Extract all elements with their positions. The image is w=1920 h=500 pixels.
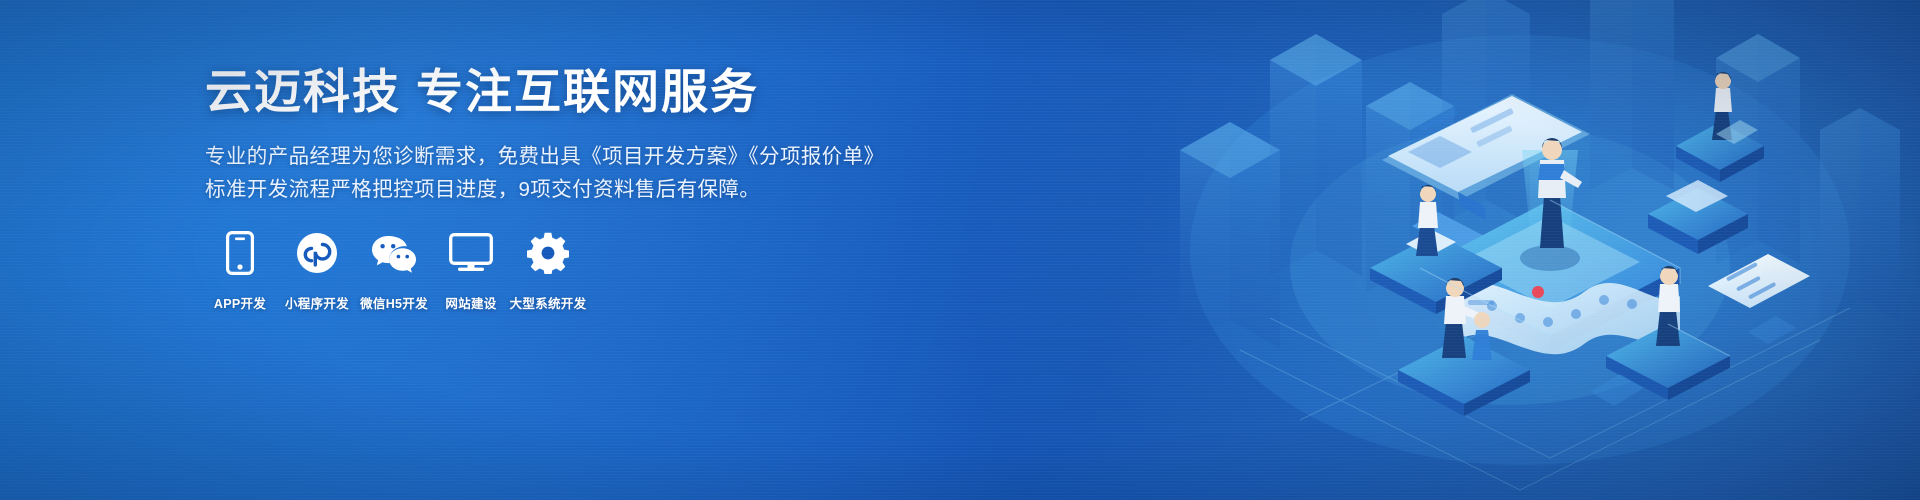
- monitor-icon: [449, 230, 493, 276]
- service-item-website[interactable]: 网站建设: [436, 230, 506, 312]
- service-label-wechat-h5: 微信H5开发: [360, 293, 428, 312]
- subtitle-line-1: 专业的产品经理为您诊断需求，免费出具《项目开发方案》《分项报价单》: [205, 140, 905, 173]
- gear-icon: [527, 230, 569, 276]
- banner-headline: 云迈科技 专注互联网服务: [205, 66, 905, 118]
- subtitle-line-2: 标准开发流程严格把控项目进度，9项交付资料售后有保障。: [205, 173, 905, 206]
- service-label-app: APP开发: [214, 293, 266, 312]
- service-item-app[interactable]: APP开发: [205, 230, 275, 312]
- wechat-icon: [371, 230, 417, 276]
- promo-banner: 云迈科技 专注互联网服务 专业的产品经理为您诊断需求，免费出具《项目开发方案》《…: [0, 0, 1920, 500]
- mini-program-icon: [296, 230, 338, 276]
- service-item-wechat-h5[interactable]: 微信H5开发: [359, 230, 429, 312]
- service-label-mini-program: 小程序开发: [285, 293, 349, 312]
- banner-subtitle: 专业的产品经理为您诊断需求，免费出具《项目开发方案》《分项报价单》 标准开发流程…: [205, 140, 905, 206]
- service-label-large-system: 大型系统开发: [510, 293, 587, 312]
- service-label-website: 网站建设: [445, 293, 496, 312]
- service-list: APP开发 小程序开发: [205, 230, 590, 312]
- smartphone-icon: [226, 230, 254, 276]
- illustration-isometric-tech: [1120, 0, 1920, 500]
- service-item-large-system[interactable]: 大型系统开发: [513, 230, 583, 312]
- banner-copy: 云迈科技 专注互联网服务 专业的产品经理为您诊断需求，免费出具《项目开发方案》《…: [205, 66, 905, 206]
- service-item-mini-program[interactable]: 小程序开发: [282, 230, 352, 312]
